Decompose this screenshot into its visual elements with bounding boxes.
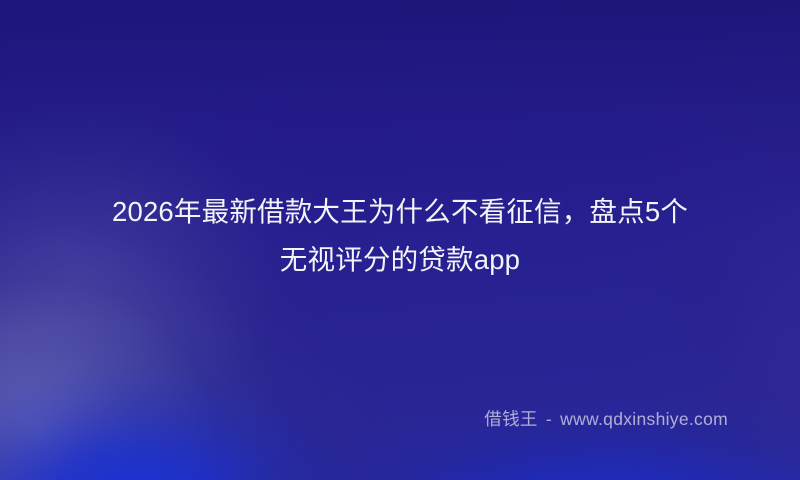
headline-line-1: 2026年最新借款大王为什么不看征信，盘点5个	[46, 188, 754, 236]
headline-title: 2026年最新借款大王为什么不看征信，盘点5个 无视评分的贷款app	[0, 188, 800, 284]
cover-image: 2026年最新借款大王为什么不看征信，盘点5个 无视评分的贷款app 借钱王 -…	[0, 0, 800, 480]
watermark-brand: 借钱王	[484, 409, 537, 429]
headline-line-2: 无视评分的贷款app	[46, 236, 754, 284]
watermark-site-url: www.qdxinshiye.com	[560, 409, 728, 429]
watermark: 借钱王 - www.qdxinshiye.com	[484, 407, 728, 431]
watermark-separator: -	[543, 409, 555, 429]
